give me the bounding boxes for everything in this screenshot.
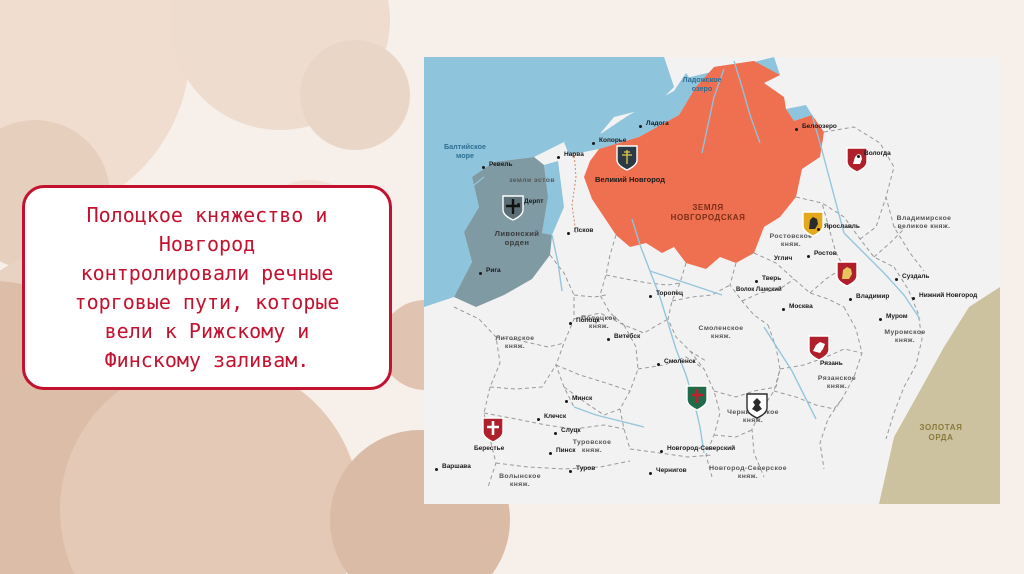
city-label-novgorod-severskiy: Новгород-Северский — [667, 445, 735, 452]
caption-line: Новгород — [75, 230, 340, 259]
region-label-line: Смоленское — [688, 325, 754, 333]
city-dot — [857, 155, 860, 158]
city-dot — [569, 470, 572, 473]
region-label-line: Рязанское — [806, 375, 868, 383]
shield-ryazan — [808, 335, 830, 361]
region-label-line: Муромское — [872, 329, 938, 337]
city-label-pinsk: Пинск — [556, 447, 575, 454]
region-label-line: княж. — [696, 473, 800, 481]
region-label-line: княж. — [760, 241, 822, 249]
shield-velikiy-novgorod — [616, 145, 638, 171]
city-label-minsk: Минск — [572, 395, 592, 402]
region-label-line: княж. — [688, 333, 754, 341]
region-label-zolotaya-orda: ЗОЛОТАЯ ОРДА — [906, 423, 976, 444]
city-label-derpt: Дерпт — [524, 198, 543, 205]
region-label-line: орден — [486, 238, 548, 247]
city-dot — [549, 452, 552, 455]
city-dot — [660, 450, 663, 453]
city-dot — [592, 142, 595, 145]
region-label-zemlya-novgorodskaya: ЗЕМЛЯ НОВГОРОДСКАЯ — [662, 203, 754, 224]
city-dot — [435, 468, 438, 471]
caption-line: Финскому заливам. — [75, 346, 340, 375]
region-label-volynskoe: Волынское княж. — [490, 473, 550, 490]
city-label-koporye: Копорье — [599, 137, 626, 144]
city-dot — [607, 338, 610, 341]
city-label-chernigov: Чернигов — [656, 467, 687, 474]
city-dot — [567, 232, 570, 235]
city-dot — [649, 295, 652, 298]
region-label-muromskoe: Муромское княж. — [872, 329, 938, 346]
city-label-revel: Ревель — [489, 161, 512, 168]
city-label-polotsk: Полоцк — [576, 317, 600, 324]
region-label-line: княж. — [806, 383, 868, 391]
region-label-line: земли эстов — [502, 177, 562, 185]
city-label-nizhniy-novgorod: Нижний Новгород — [919, 292, 977, 299]
region-label-line: Владимирское — [884, 215, 964, 223]
region-label-line: Ливонский — [486, 229, 548, 238]
city-label-toropets: Торопец — [656, 290, 683, 297]
city-label-yaroslavl: Ярославль — [824, 223, 860, 230]
city-dot — [517, 203, 520, 206]
city-label-slutsk: Слуцк — [561, 427, 581, 434]
city-label-uglich: Углич — [774, 255, 792, 262]
caption-line: контролировали речные — [75, 259, 340, 288]
city-dot — [912, 297, 915, 300]
city-dot — [657, 363, 660, 366]
city-label-vladimir: Владимир — [856, 293, 889, 300]
region-label-smolenskoe: Смоленское княж. — [688, 325, 754, 342]
city-label-beloozero: Белоозеро — [802, 123, 837, 130]
region-label-line: ЗЕМЛЯ — [662, 203, 754, 213]
city-dot — [895, 278, 898, 281]
sea-label-baltic: Балтийское море — [434, 142, 496, 161]
city-dot — [565, 400, 568, 403]
shield-vladimir — [836, 261, 858, 287]
region-label-line: Новгород-Северское — [696, 465, 800, 473]
historical-map: Балтийское море Ладожское озеро земли эс… — [424, 57, 1000, 504]
city-dot — [554, 432, 557, 435]
shield-livonian-order — [502, 195, 524, 221]
caption-line: торговые пути, которые — [75, 288, 340, 317]
caption-text: Полоцкое княжество и Новгород контролиро… — [75, 201, 340, 375]
region-label-zemli-estov: земли эстов — [502, 177, 562, 185]
city-dot — [639, 125, 642, 128]
sea-label-line: озеро — [672, 84, 732, 93]
background-blob — [300, 40, 410, 150]
city-dot — [649, 472, 652, 475]
sea-label-line: Ладожское — [672, 75, 732, 84]
region-label-line: НОВГОРОДСКАЯ — [662, 213, 754, 223]
city-label-smolensk: Смоленск — [664, 358, 696, 365]
region-label-line: княж. — [490, 481, 550, 489]
city-label-turov: Туров — [576, 465, 595, 472]
city-dot — [482, 166, 485, 169]
city-label-ladoga: Ладога — [646, 120, 669, 127]
city-label-volok-lamskiy: Волок Ламский — [736, 287, 782, 293]
region-label-line: Волынское — [490, 473, 550, 481]
city-label-ryazan: Рязань — [820, 360, 843, 367]
region-label-line: княж. — [570, 323, 628, 331]
sea-label-ladoga: Ладожское озеро — [672, 75, 732, 94]
city-dot — [755, 280, 758, 283]
city-dot — [537, 418, 540, 421]
city-dot — [879, 318, 882, 321]
city-dot — [782, 308, 785, 311]
region-label-livonian-order: Ливонский орден — [486, 229, 548, 248]
region-label-ryazanskoe: Рязанское княж. — [806, 375, 868, 392]
shield-yaroslavl — [802, 211, 824, 237]
city-dot — [795, 128, 798, 131]
region-label-line: ЗОЛОТАЯ — [906, 423, 976, 433]
city-dot — [849, 298, 852, 301]
caption-card: Полоцкое княжество и Новгород контролиро… — [22, 185, 392, 390]
region-label-line: княж. — [872, 337, 938, 345]
city-label-pskov: Псков — [574, 227, 593, 234]
city-label-rostov: Ростов — [814, 250, 837, 257]
sea-label-line: Балтийское — [434, 142, 496, 151]
region-label-vladimirskoe: Владимирское великое княж. — [884, 215, 964, 232]
city-label-riga: Рига — [486, 267, 501, 274]
region-label-litovskoe: Литовское княж. — [484, 335, 546, 352]
city-dot — [807, 255, 810, 258]
city-label-moskva: Москва — [789, 303, 813, 310]
region-label-line: княж. — [484, 343, 546, 351]
city-label-berestye: Берестье — [474, 445, 504, 452]
shield-berestye — [482, 417, 504, 443]
city-label-tver: Тверь — [762, 275, 781, 282]
city-label-vitebsk: Витебск — [614, 333, 640, 340]
city-label-suzdal: Суздаль — [902, 273, 929, 280]
city-label-murom: Муром — [886, 313, 908, 320]
shield-smolensk — [686, 385, 708, 411]
shield-chernigov — [746, 393, 768, 419]
city-dot — [479, 272, 482, 275]
city-dot — [569, 322, 572, 325]
region-label-line: великое княж. — [884, 223, 964, 231]
region-label-line: Литовское — [484, 335, 546, 343]
city-label-narva: Нарва — [564, 151, 584, 158]
city-dot — [817, 228, 820, 231]
sea-label-line: море — [434, 151, 496, 160]
city-label-klechsk: Клечск — [544, 413, 566, 420]
city-label-vologda: Вологда — [864, 150, 891, 157]
caption-line: Полоцкое княжество и — [75, 201, 340, 230]
city-dot — [557, 156, 560, 159]
caption-line: вели к Рижскому и — [75, 317, 340, 346]
city-label-velikiy-novgorod: Великий Новгород — [594, 175, 666, 184]
region-label-line: ОРДА — [906, 433, 976, 443]
city-label-varshava: Варшава — [442, 463, 471, 470]
region-label-novgorod-severskoe: Новгород-Северское княж. — [696, 465, 800, 482]
